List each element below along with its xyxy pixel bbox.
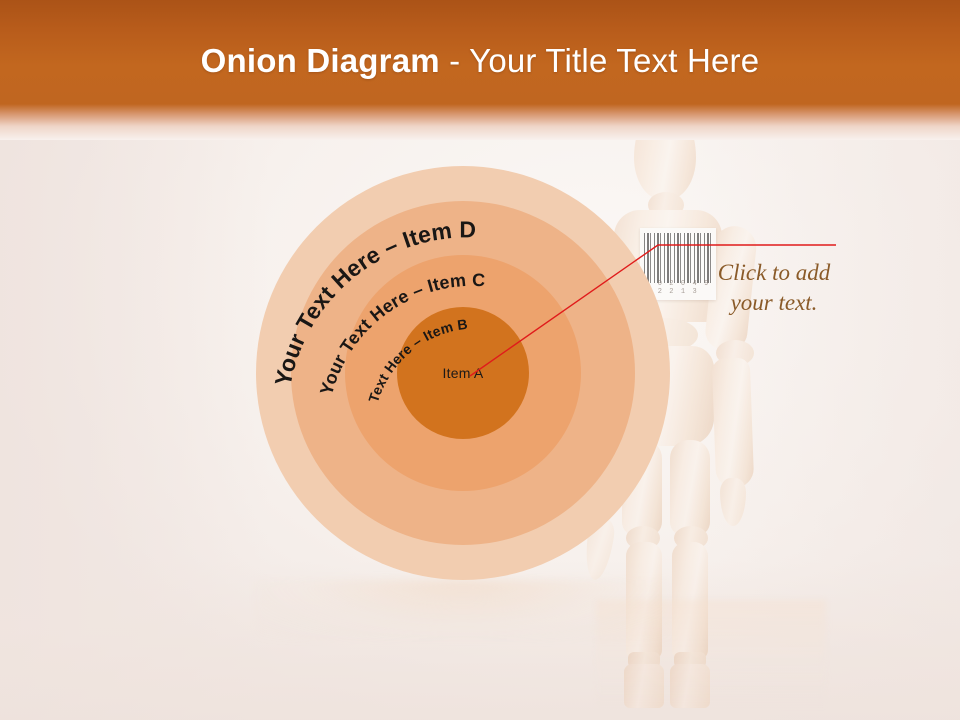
callout-line-2: your text. bbox=[731, 290, 818, 315]
mannequin-right-forearm bbox=[712, 357, 755, 488]
mannequin-right-hand bbox=[720, 478, 746, 526]
page-title-rest: - Your Title Text Here bbox=[440, 42, 760, 79]
title-band-fade bbox=[0, 104, 960, 140]
diagram-reflection bbox=[256, 580, 670, 640]
slide-canvas: 1 0 2 0 4 9 2 2 1 3 Your Text Here – Ite… bbox=[0, 0, 960, 720]
page-title-bold: Onion Diagram bbox=[201, 42, 440, 79]
mannequin-right-thigh bbox=[670, 440, 710, 536]
onion-label-item-a: Item A bbox=[397, 307, 529, 439]
callout-placeholder-text[interactable]: Click to add your text. bbox=[684, 258, 864, 319]
page-title[interactable]: Onion Diagram - Your Title Text Here bbox=[0, 42, 960, 80]
onion-diagram: Your Text Here – Item D Your Text Here –… bbox=[256, 166, 670, 580]
callout-line-1: Click to add bbox=[718, 260, 830, 285]
